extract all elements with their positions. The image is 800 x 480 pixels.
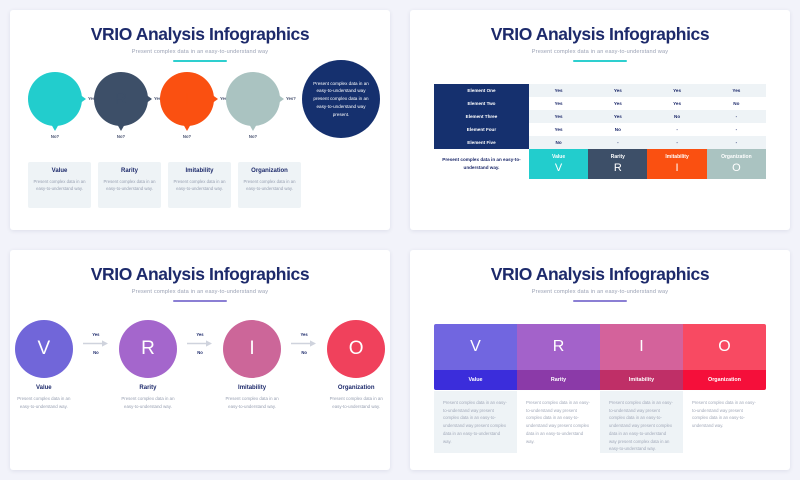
slide-grid: VRIO Analysis Infographics Present compl… — [0, 0, 800, 480]
footer-note: Present complex data in an easy-to-under… — [434, 149, 529, 179]
bubble-letter: I — [185, 89, 190, 109]
page-subtitle: Present complex data in an easy-to-under… — [410, 49, 790, 55]
column-letter: I — [639, 338, 643, 356]
footer-letter: R — [589, 162, 646, 174]
slide-2: VRIO Analysis Infographics Present compl… — [410, 10, 790, 230]
bubble-v-no-label: No? — [43, 134, 67, 139]
arrow-yes-label: Yes — [286, 332, 323, 337]
row-label: Element Five — [434, 136, 529, 149]
title-underline — [573, 300, 627, 302]
card-title: Value — [33, 168, 86, 174]
table-row[interactable]: Element One Yes Yes Yes Yes — [434, 84, 766, 97]
slide-2-header: VRIO Analysis Infographics Present compl… — [410, 10, 790, 62]
footer-cell-organization[interactable]: Organization O — [707, 149, 766, 179]
flow-desc: Present complex data in an easy-to-under… — [114, 395, 182, 411]
card-desc: Present complex data in an easy-to-under… — [33, 178, 86, 193]
slide-3: VRIO Analysis Infographics Present compl… — [10, 250, 390, 470]
page-title: VRIO Analysis Infographics — [410, 264, 790, 285]
footer-label: Imitability — [648, 154, 705, 160]
column-letter-cell: R — [517, 324, 600, 370]
cell: Yes — [647, 97, 706, 110]
cell: Yes — [588, 110, 647, 123]
row-label: Element Four — [434, 123, 529, 136]
card-desc: Present complex data in an easy-to-under… — [173, 178, 226, 193]
flow-circle-i[interactable]: I — [223, 320, 281, 378]
column-letter: R — [553, 338, 565, 356]
flow-circle-o[interactable]: O — [327, 320, 385, 378]
column-desc-organization: Present complex data in an easy-to-under… — [683, 391, 766, 453]
cell: No — [647, 110, 706, 123]
arrow-yes-label: Yes — [78, 332, 115, 337]
slide-4: VRIO Analysis Infographics Present compl… — [410, 250, 790, 470]
bubble-tail-right-icon — [211, 94, 218, 104]
table-row[interactable]: Element Three Yes Yes No - — [434, 110, 766, 123]
slide-4-header: VRIO Analysis Infographics Present compl… — [410, 250, 790, 302]
slide-4-description-row: Present complex data in an easy-to-under… — [434, 391, 766, 453]
slide-1-header: VRIO Analysis Infographics Present compl… — [10, 10, 390, 62]
cell: Yes — [588, 84, 647, 97]
card-title: Rarity — [103, 168, 156, 174]
flow-item-organization[interactable]: O Organization Present complex data in a… — [322, 320, 390, 411]
bubble-letter: V — [49, 89, 60, 109]
arrow-no-label: No — [182, 350, 219, 355]
card-organization[interactable]: Organization Present complex data in an … — [238, 162, 301, 208]
vrio-matrix-table: Element One Yes Yes Yes Yes Element Two … — [434, 84, 766, 179]
column-label-cell: Organization — [683, 370, 766, 390]
column-label-cell: Rarity — [517, 370, 600, 390]
column-label: Rarity — [551, 377, 566, 383]
footer-cell-rarity[interactable]: Rarity R — [588, 149, 647, 179]
cell: - — [707, 123, 766, 136]
flow-letter: R — [141, 338, 155, 360]
cell: Yes — [529, 97, 588, 110]
footer-cell-value[interactable]: Value V — [529, 149, 588, 179]
flow-desc: Present complex data in an easy-to-under… — [10, 395, 78, 411]
arrow-yes-label: Yes — [182, 332, 219, 337]
card-imitability[interactable]: Imitability Present complex data in an e… — [168, 162, 231, 208]
column-letter-cell: I — [600, 324, 683, 370]
arrow-no-label: No — [286, 350, 323, 355]
flow-letter: I — [249, 338, 254, 360]
cell: Yes — [588, 97, 647, 110]
page-subtitle: Present complex data in an easy-to-under… — [10, 49, 390, 55]
flow-circle-v[interactable]: V — [15, 320, 73, 378]
arrow-right-icon — [187, 340, 213, 347]
cell: Yes — [529, 123, 588, 136]
footer-letter: V — [530, 162, 587, 174]
bubble-letter: R — [115, 89, 127, 109]
column-desc-value: Present complex data in an easy-to-under… — [434, 391, 517, 453]
cell: Yes — [529, 110, 588, 123]
title-underline — [573, 60, 627, 62]
row-label: Element Two — [434, 97, 529, 110]
title-underline — [173, 300, 227, 302]
bubble-r[interactable]: R — [94, 72, 148, 126]
flow-title: Rarity — [114, 385, 182, 391]
table-footer-row: Present complex data in an easy-to-under… — [434, 149, 766, 179]
slide-1: VRIO Analysis Infographics Present compl… — [10, 10, 390, 230]
card-title: Organization — [243, 168, 296, 174]
cell: No — [588, 123, 647, 136]
bubble-tail-right-icon — [145, 94, 152, 104]
cell: - — [647, 123, 706, 136]
column-label-cell: Value — [434, 370, 517, 390]
bubble-tail-bottom-icon — [183, 124, 191, 131]
flow-desc: Present complex data in an easy-to-under… — [218, 395, 286, 411]
column-label: Organization — [708, 377, 741, 383]
flow-item-value[interactable]: V Value Present complex data in an easy-… — [10, 320, 78, 411]
page-title: VRIO Analysis Infographics — [10, 264, 390, 285]
cell: - — [588, 136, 647, 149]
footer-label: Value — [530, 154, 587, 160]
column-label: Imitability — [629, 377, 654, 383]
flow-title: Imitability — [218, 385, 286, 391]
flow-item-rarity[interactable]: R Rarity Present complex data in an easy… — [114, 320, 182, 411]
column-rarity[interactable]: R Rarity — [517, 324, 600, 390]
card-rarity[interactable]: Rarity Present complex data in an easy-t… — [98, 162, 161, 208]
column-label-cell: Imitability — [600, 370, 683, 390]
flow-arrow-3: Yes No — [286, 320, 323, 355]
bubble-tail-right-icon — [79, 94, 86, 104]
arrow-no-label: No — [78, 350, 115, 355]
card-title: Imitability — [173, 168, 226, 174]
flow-item-imitability[interactable]: I Imitability Present complex data in an… — [218, 320, 286, 411]
cell: - — [647, 136, 706, 149]
bubble-i[interactable]: I — [160, 72, 214, 126]
footer-cell-imitability[interactable]: Imitability I — [647, 149, 706, 179]
arrow-right-icon — [291, 340, 317, 347]
column-desc-imitability: Present complex data in an easy-to-under… — [600, 391, 683, 453]
slide-3-flow: V Value Present complex data in an easy-… — [10, 320, 390, 411]
row-label: Element Three — [434, 110, 529, 123]
flow-letter: O — [349, 338, 364, 360]
bubble-tail-bottom-icon — [117, 124, 125, 131]
table-row[interactable]: Element Four Yes No - - — [434, 123, 766, 136]
footer-label: Rarity — [589, 154, 646, 160]
column-letter: V — [470, 338, 481, 356]
title-underline — [173, 60, 227, 62]
cell: Yes — [647, 84, 706, 97]
footer-label: Organization — [708, 154, 765, 160]
column-letter: O — [718, 338, 730, 356]
bubble-v[interactable]: V — [28, 72, 82, 126]
page-subtitle: Present complex data in an easy-to-under… — [410, 289, 790, 295]
cell: Yes — [707, 84, 766, 97]
flow-title: Value — [10, 385, 78, 391]
page-title: VRIO Analysis Infographics — [410, 24, 790, 45]
column-letter-cell: O — [683, 324, 766, 370]
slide-3-header: VRIO Analysis Infographics Present compl… — [10, 250, 390, 302]
column-letter-cell: V — [434, 324, 517, 370]
card-desc: Present complex data in an easy-to-under… — [243, 178, 296, 193]
card-desc: Present complex data in an easy-to-under… — [103, 178, 156, 193]
slide-1-card-row: Value Present complex data in an easy-to… — [28, 162, 301, 208]
page-subtitle: Present complex data in an easy-to-under… — [10, 289, 390, 295]
bubble-r-no-label: No? — [109, 134, 133, 139]
flow-letter: V — [37, 338, 50, 360]
column-label: Value — [468, 377, 482, 383]
column-organization[interactable]: O Organization — [683, 324, 766, 390]
cell: Yes — [529, 84, 588, 97]
flow-arrow-1: Yes No — [78, 320, 115, 355]
bubble-o-yes-label: Yes? — [286, 96, 296, 101]
flow-circle-r[interactable]: R — [119, 320, 177, 378]
bubble-tail-bottom-icon — [249, 124, 257, 131]
column-value[interactable]: V Value — [434, 324, 517, 390]
page-title: VRIO Analysis Infographics — [10, 24, 390, 45]
table-row[interactable]: Element Two Yes Yes Yes No — [434, 97, 766, 110]
footer-letter: O — [708, 162, 765, 174]
bubble-o[interactable]: O — [226, 72, 280, 126]
arrow-right-icon — [83, 340, 109, 347]
column-imitability[interactable]: I Imitability — [600, 324, 683, 390]
table-row[interactable]: Element Five No - - - — [434, 136, 766, 149]
bubble-tail-right-icon — [277, 94, 284, 104]
column-desc-rarity: Present complex data in an easy-to-under… — [517, 391, 600, 453]
summary-circle[interactable]: Present complex data in an easy-to-under… — [302, 60, 380, 138]
row-label: Element One — [434, 84, 529, 97]
flow-title: Organization — [322, 385, 390, 391]
flow-arrow-2: Yes No — [182, 320, 219, 355]
flow-desc: Present complex data in an easy-to-under… — [322, 395, 390, 411]
slide-1-bubble-row: V Yes? No? R Yes? No? I Yes? No? O — [10, 72, 390, 150]
cell: - — [707, 136, 766, 149]
footer-letter: I — [648, 162, 705, 174]
bubble-i-no-label: No? — [175, 134, 199, 139]
cell: - — [707, 110, 766, 123]
slide-4-color-bar: V Value R Rarity I Imitability — [434, 324, 766, 390]
bubble-o-no-label: No? — [241, 134, 265, 139]
cell: No — [529, 136, 588, 149]
bubble-tail-bottom-icon — [51, 124, 59, 131]
cell: No — [707, 97, 766, 110]
card-value[interactable]: Value Present complex data in an easy-to… — [28, 162, 91, 208]
summary-circle-text: Present complex data in an easy-to-under… — [312, 80, 370, 119]
bubble-letter: O — [246, 89, 259, 109]
